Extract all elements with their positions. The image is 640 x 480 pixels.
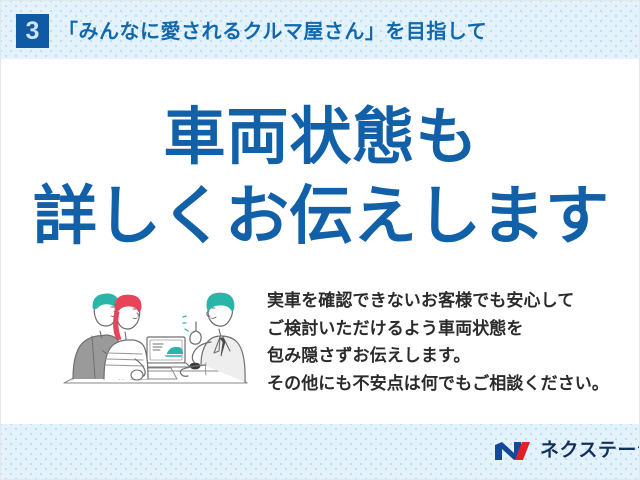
headline-line-2: 詳しくお伝えします	[1, 181, 640, 251]
headline-line-1: 車両状態も	[1, 104, 640, 172]
body-copy-line-1: 実車を確認できないお客様でも安心して	[267, 287, 612, 315]
body-copy-line-2: ご検討いただけるよう車両状態を	[267, 315, 612, 343]
body-copy-line-3: 包み隠さずお伝えします。	[267, 342, 612, 370]
page-title: 「みんなに愛されるクルマ屋さん」を目指して	[58, 17, 487, 47]
section-number-badge: 3	[16, 14, 49, 48]
brand-logo: ネクステージ	[494, 438, 640, 464]
brand-logo-text: ネクステージ	[540, 439, 640, 463]
consultation-illustration	[59, 279, 251, 397]
consultation-illustration-svg	[59, 279, 251, 397]
nextage-n-logo-icon	[494, 439, 534, 463]
body-copy-line-4: その他にも不安点は何でもご相談ください。	[267, 370, 612, 398]
body-copy: 実車を確認できないお客様でも安心して ご検討いただけるよう車両状態を 包み隠さず…	[267, 287, 612, 397]
slide-canvas: 3 「みんなに愛されるクルマ屋さん」を目指して 車両状態も 詳しくお伝えします	[0, 0, 640, 480]
